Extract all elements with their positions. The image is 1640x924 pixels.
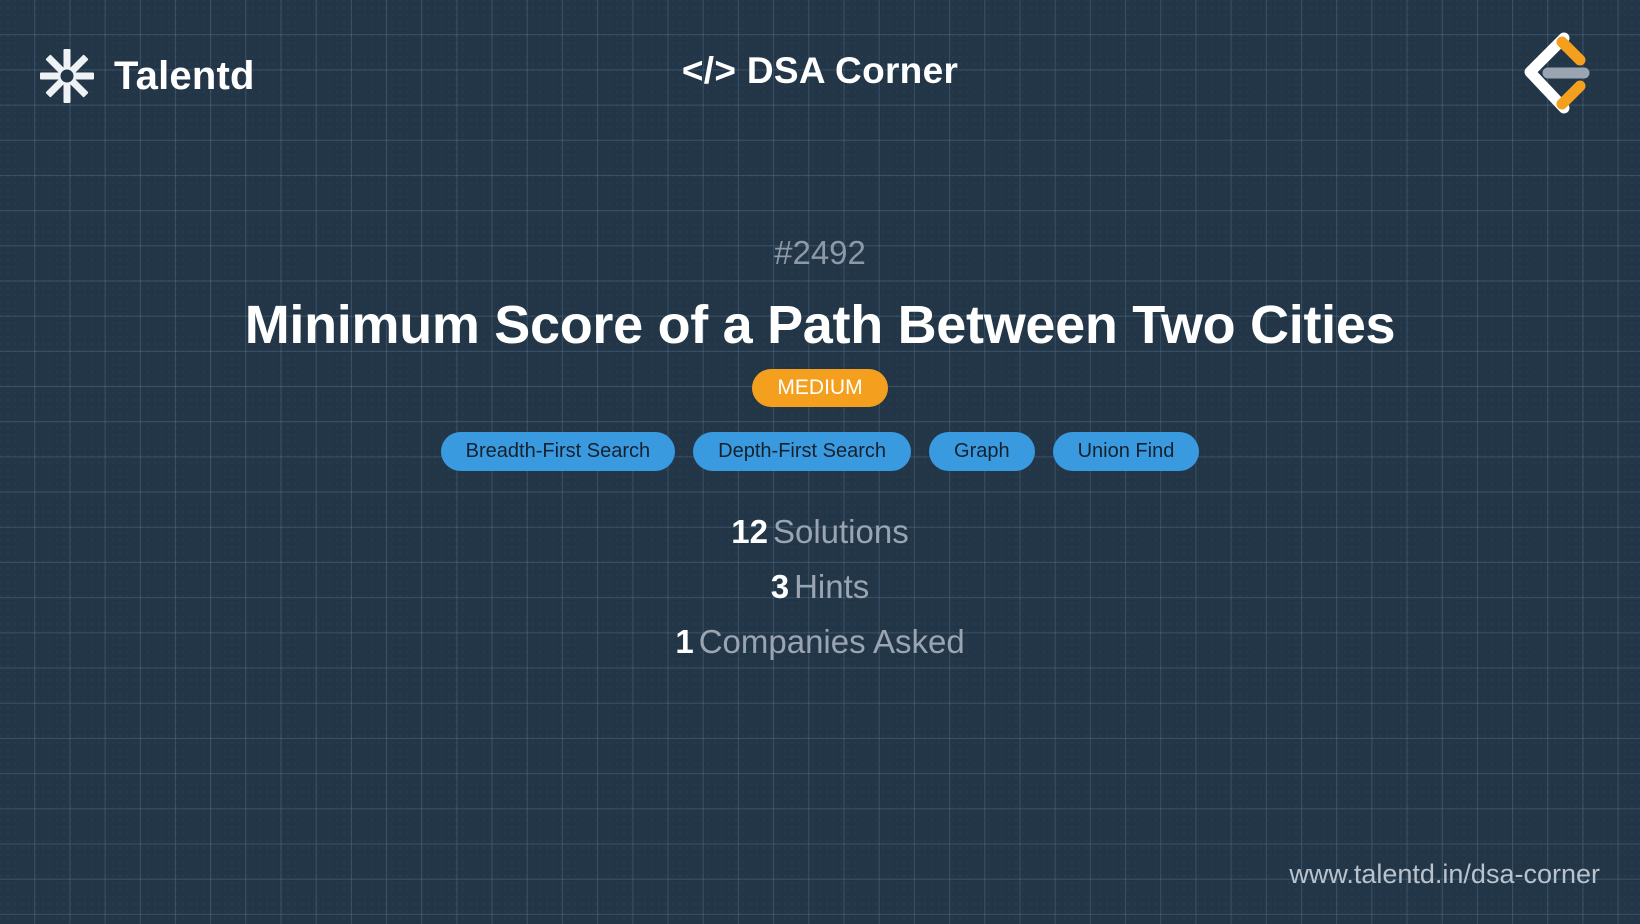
topic-tag[interactable]: Union Find bbox=[1053, 432, 1200, 471]
problem-number: #2492 bbox=[0, 236, 1640, 269]
topic-tag-list: Breadth-First SearchDepth-First SearchGr… bbox=[0, 432, 1640, 471]
footer-url[interactable]: www.talentd.in/dsa-corner bbox=[1289, 861, 1600, 888]
stat-label: Hints bbox=[794, 568, 869, 605]
stat-line: 3Hints bbox=[0, 570, 1640, 603]
problem-stats: 12Solutions3Hints1Companies Asked bbox=[0, 515, 1640, 658]
topic-tag[interactable]: Graph bbox=[929, 432, 1035, 471]
problem-title: Minimum Score of a Path Between Two Citi… bbox=[0, 295, 1640, 355]
brand[interactable]: Talentd bbox=[38, 47, 255, 105]
talentd-starburst-icon bbox=[38, 47, 96, 105]
stat-label: Companies Asked bbox=[699, 623, 965, 660]
topic-tag[interactable]: Breadth-First Search bbox=[441, 432, 676, 471]
stat-value: 1 bbox=[675, 623, 693, 660]
stat-line: 12Solutions bbox=[0, 515, 1640, 548]
leetcode-logo-icon bbox=[1500, 24, 1600, 124]
difficulty-row: MEDIUM bbox=[0, 369, 1640, 407]
stat-value: 3 bbox=[771, 568, 789, 605]
stat-value: 12 bbox=[731, 513, 768, 550]
stat-line: 1Companies Asked bbox=[0, 625, 1640, 658]
difficulty-badge: MEDIUM bbox=[752, 369, 887, 407]
brand-name: Talentd bbox=[114, 56, 255, 96]
topic-tag[interactable]: Depth-First Search bbox=[693, 432, 911, 471]
page-header: Talentd </> DSA Corner bbox=[0, 0, 1640, 152]
problem-card: #2492 Minimum Score of a Path Between Tw… bbox=[0, 236, 1640, 658]
stat-label: Solutions bbox=[773, 513, 909, 550]
